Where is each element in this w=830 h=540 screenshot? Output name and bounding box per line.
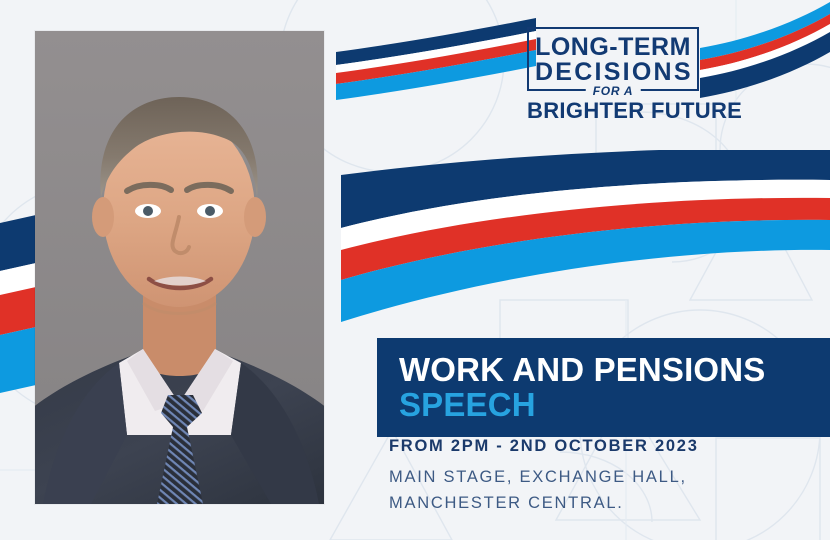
event-title-main: WORK AND PENSIONS — [399, 352, 830, 387]
logo-line-long-term: LONG-TERM — [535, 35, 691, 60]
ribbon-band-light-blue — [336, 50, 536, 100]
ribbon-left-edge-svg — [0, 215, 36, 397]
ribbon-band-red — [700, 14, 830, 70]
ribbon-band-white — [0, 263, 36, 295]
ribbon-band-navy — [0, 215, 36, 271]
event-venue-line-1: MAIN STAGE, EXCHANGE HALL, — [389, 465, 809, 491]
logo-line-brighter-future: BRIGHTER FUTURE — [527, 98, 699, 124]
event-details: FROM 2PM - 2ND OCTOBER 2023 MAIN STAGE, … — [389, 437, 809, 516]
event-venue: MAIN STAGE, EXCHANGE HALL, MANCHESTER CE… — [389, 465, 809, 516]
iris-left — [143, 206, 153, 216]
ribbon-band-white — [336, 31, 536, 73]
ribbon-top-right — [700, 0, 830, 100]
speaker-portrait-photo — [35, 31, 324, 504]
ribbon-top-right-svg — [700, 0, 830, 100]
logo-box: LONG-TERM DECISIONS — [527, 27, 699, 91]
ribbon-top-left — [336, 18, 536, 122]
ear-left — [92, 197, 114, 237]
long-term-decisions-logo: LONG-TERM DECISIONS FOR A BRIGHTER FUTUR… — [527, 27, 699, 124]
ribbon-band-white — [700, 24, 830, 78]
ribbon-band-navy — [341, 150, 830, 228]
ribbon-band-light-blue — [700, 2, 830, 60]
portrait-illustration — [35, 31, 324, 504]
ear-right — [244, 197, 266, 237]
logo-line-decisions: DECISIONS — [535, 60, 691, 85]
ribbon-band-light-blue — [0, 327, 36, 393]
ribbon-left-edge — [0, 215, 36, 397]
iris-right — [205, 206, 215, 216]
ribbon-top-left-svg — [336, 18, 536, 122]
event-venue-line-2: MANCHESTER CENTRAL. — [389, 491, 809, 517]
ribbon-band-red — [336, 39, 536, 84]
event-date-time: FROM 2PM - 2ND OCTOBER 2023 — [389, 437, 809, 456]
ribbon-band-red — [341, 198, 830, 280]
ribbon-band-red — [0, 287, 36, 335]
ribbon-band-navy — [336, 18, 536, 65]
event-announcement-poster: LONG-TERM DECISIONS FOR A BRIGHTER FUTUR… — [0, 0, 830, 540]
ribbon-band-white — [341, 180, 830, 250]
ribbon-main-svg — [336, 150, 830, 330]
ribbon-main — [336, 150, 830, 330]
ribbon-band-light-blue — [341, 220, 830, 322]
event-title-sub: SPEECH — [399, 387, 830, 422]
event-title-banner: WORK AND PENSIONS SPEECH — [377, 338, 830, 437]
ribbon-band-navy — [700, 32, 830, 98]
logo-connector-for-a: FOR A — [586, 84, 641, 98]
